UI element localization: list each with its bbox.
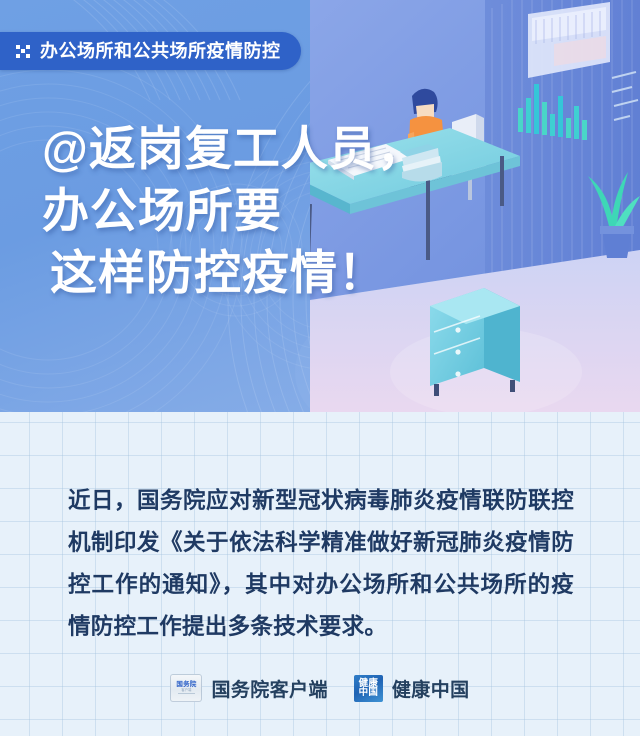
title-line-2: 办公场所要 — [42, 180, 425, 242]
pixel-arrow-icon — [16, 45, 29, 58]
page-title: @返岗复工人员， 办公场所要 这样防控疫情！ — [42, 118, 425, 304]
title-line-1: @返岗复工人员， — [42, 118, 425, 180]
body-section: 近日，国务院应对新型冠状病毒肺炎疫情联防联控机制印发《关于依法科学精准做好新冠肺… — [0, 412, 640, 736]
brand-guowuyuan[interactable]: 国务院 客户端 国务院客户端 — [170, 674, 327, 702]
logo-divider — [178, 693, 195, 694]
brand-jiankang-label: 健康中国 — [392, 675, 470, 702]
header-badge[interactable]: 办公场所和公共场所疫情防控 — [0, 32, 301, 70]
header-badge-label: 办公场所和公共场所疫情防控 — [40, 42, 281, 60]
poster-root: 办公场所和公共场所疫情防控 @返岗复工人员， 办公场所要 这样防控疫情！ 近日，… — [0, 0, 640, 736]
jiankang-zhongguo-logo-icon: 健康 中国 — [354, 675, 383, 702]
footer-brands: 国务院 客户端 国务院客户端 健康 中国 健康中国 — [0, 674, 640, 702]
guowuyuan-logo-icon: 国务院 客户端 — [170, 674, 202, 702]
brand-guowuyuan-label: 国务院客户端 — [211, 675, 327, 702]
guowuyuan-logo-text-secondary: 客户端 — [181, 689, 191, 692]
title-line-3: 这样防控疫情！ — [50, 242, 425, 304]
jk-logo-text-secondary: 中国 — [359, 688, 379, 698]
hero-section: 办公场所和公共场所疫情防控 @返岗复工人员， 办公场所要 这样防控疫情！ — [0, 0, 640, 412]
body-paragraph: 近日，国务院应对新型冠状病毒肺炎疫情联防联控机制印发《关于依法科学精准做好新冠肺… — [68, 480, 574, 647]
brand-jiankang-zhongguo[interactable]: 健康 中国 健康中国 — [354, 675, 470, 702]
